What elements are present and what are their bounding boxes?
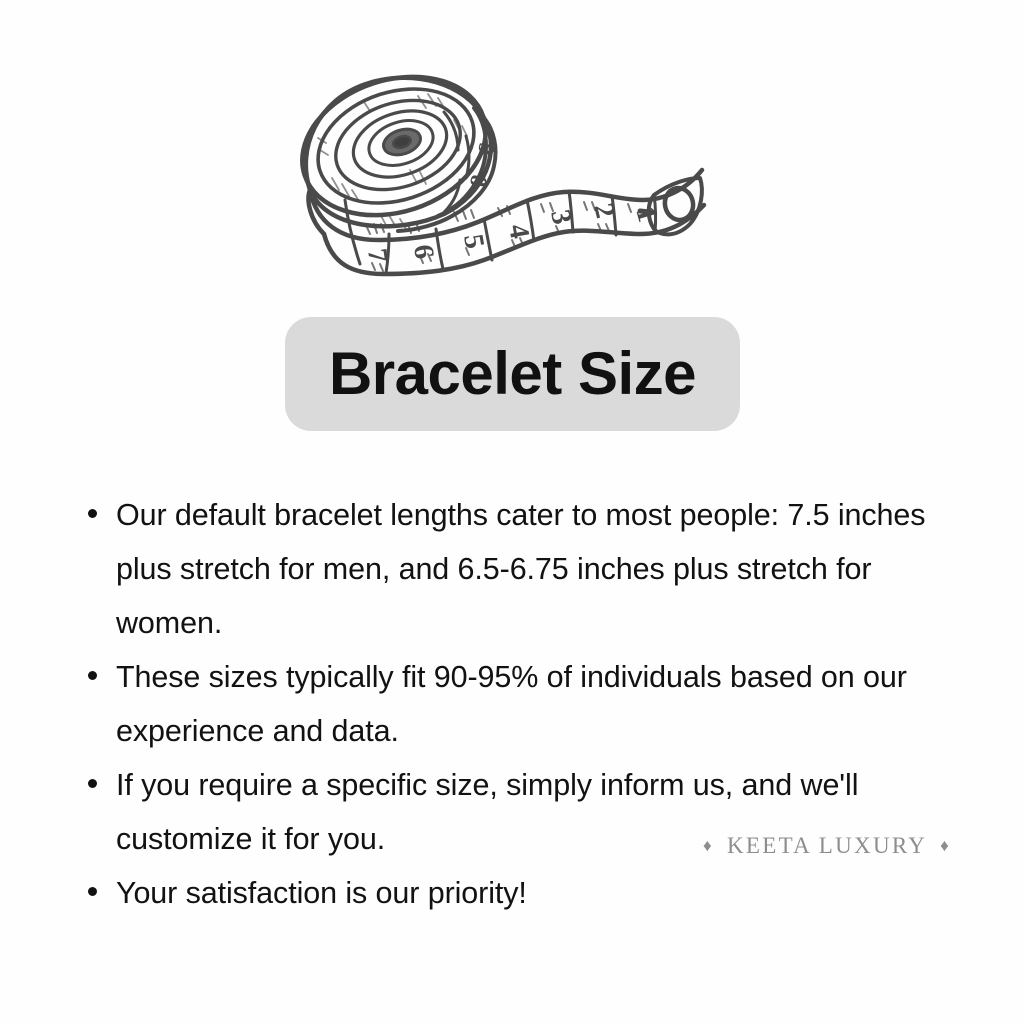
tape-coil-side-band xyxy=(398,108,496,231)
tape-number-1: 1 xyxy=(629,203,663,225)
title-badge: Bracelet Size xyxy=(285,317,740,431)
bullet-dot-icon xyxy=(88,779,97,788)
list-item: Your satisfaction is our priority! xyxy=(84,866,976,920)
diamond-right-icon: ♦ xyxy=(940,837,951,854)
list-item: These sizes typically fit 90-95% of indi… xyxy=(84,650,964,758)
tape-number-4: 4 xyxy=(502,222,535,241)
bullet-dot-icon xyxy=(88,671,97,680)
brand-name: KEETA LUXURY xyxy=(727,834,927,857)
list-item: Our default bracelet lengths cater to mo… xyxy=(84,488,982,650)
tape-number-6: 6 xyxy=(407,243,440,261)
list-item-text: These sizes typically fit 90-95% of indi… xyxy=(116,660,907,748)
bullet-dot-icon xyxy=(88,509,97,518)
tape-number-5: 5 xyxy=(457,232,490,251)
coil-number-8: 8 xyxy=(465,173,492,189)
list-item-text: Our default bracelet lengths cater to mo… xyxy=(116,498,925,640)
diamond-left-icon: ♦ xyxy=(703,837,714,854)
bullet-dot-icon xyxy=(88,887,97,896)
page-title: Bracelet Size xyxy=(329,344,696,404)
tape-measure-illustration: 7 6 5 4 3 2 1 xyxy=(288,74,730,296)
tape-number-0-dash xyxy=(640,211,650,212)
list-item-text: Your satisfaction is our priority! xyxy=(116,876,527,910)
brand-watermark: ♦ KEETA LUXURY ♦ xyxy=(703,834,951,857)
page-root: 7 6 5 4 3 2 1 xyxy=(0,0,1024,1024)
